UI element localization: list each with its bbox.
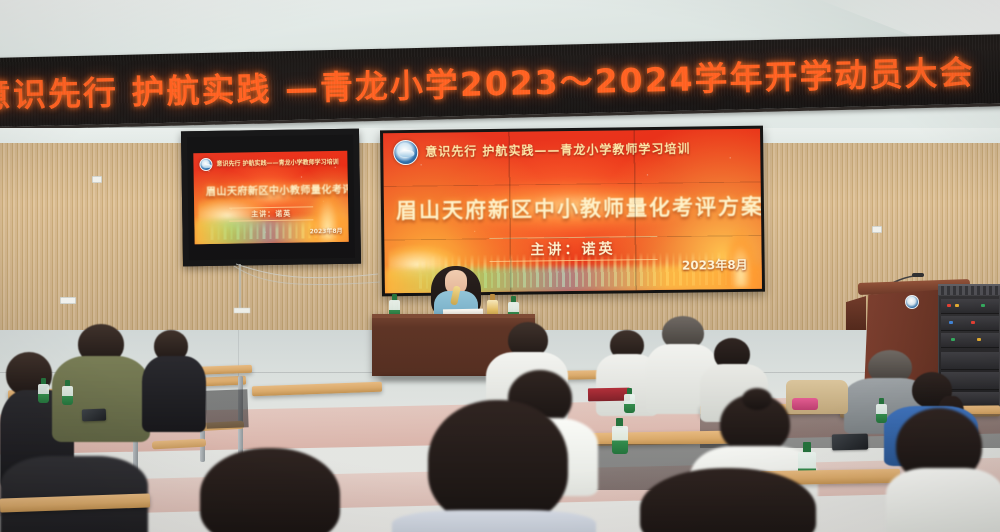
school-emblem-icon xyxy=(905,295,919,309)
attendee-foreground-left xyxy=(392,400,598,532)
attendee-foreground-far-right xyxy=(886,408,1000,532)
left-slide-presenter-block: 主讲：诺英 xyxy=(229,206,313,221)
rack-unit-amplifier[interactable] xyxy=(941,299,999,314)
rack-unit-power-amp[interactable] xyxy=(941,352,999,370)
left-slide-subtitle: 意识先行 护航实践——青龙小学教师学习培训 xyxy=(216,157,339,168)
left-screen-slide: 意识先行 护航实践——青龙小学教师学习培训 眉山天府新区中小教师量化考评方案 主… xyxy=(193,151,348,244)
water-bottle xyxy=(38,378,49,403)
wall-switch xyxy=(92,176,102,183)
left-slide-date: 2023年8月 xyxy=(310,226,343,236)
status-led xyxy=(981,304,985,307)
hanging-cables xyxy=(232,262,382,320)
attendee-head xyxy=(640,468,816,532)
status-led xyxy=(977,338,981,341)
attendee-left-3 xyxy=(142,330,208,440)
attendee-foreground-right xyxy=(616,468,836,532)
smartphone[interactable] xyxy=(82,409,106,422)
main-slide-presenter-block: 主讲：诺英 xyxy=(489,236,657,262)
attendee-body xyxy=(142,356,206,432)
wall-outlet xyxy=(60,297,76,304)
wall-outlet xyxy=(872,226,882,233)
left-slide-title: 眉山天府新区中小教师量化考评方案 xyxy=(206,181,336,198)
status-led xyxy=(947,304,951,307)
water-bottle xyxy=(62,380,73,405)
main-slide-date: 2023年8月 xyxy=(682,256,748,274)
auditorium-photo: 意识先行 护航实践 —青龙小学2023～2024学年开学动员大会 意识先行 护航… xyxy=(0,0,1000,532)
left-flat-tv: 意识先行 护航实践——青龙小学教师学习培训 眉山天府新区中小教师量化考评方案 主… xyxy=(181,129,361,267)
status-led xyxy=(971,321,975,324)
main-slide-presenter: 主讲：诺英 xyxy=(489,236,657,262)
seat-back-panel xyxy=(205,389,248,428)
attendee-body xyxy=(886,468,1000,532)
school-emblem-icon xyxy=(199,158,212,171)
attendee-body xyxy=(392,510,596,532)
attendee-head xyxy=(200,448,340,532)
smartphone[interactable] xyxy=(832,434,868,451)
water-bottle xyxy=(612,418,628,454)
water-bottle xyxy=(624,388,635,413)
rack-unit-sequencer[interactable] xyxy=(941,333,999,348)
led-banner-text: 意识先行 护航实践 —青龙小学2023～2024学年开学动员大会 xyxy=(0,45,975,116)
attendee-foreground-far-left xyxy=(0,446,150,532)
status-led xyxy=(955,304,959,307)
status-led xyxy=(949,321,953,324)
status-led xyxy=(951,338,955,341)
attendee-head xyxy=(428,400,568,524)
left-slide-presenter: 主讲：诺英 xyxy=(229,206,313,221)
hair-bun xyxy=(742,388,772,410)
school-emblem-icon xyxy=(393,140,418,165)
rack-unit-receiver[interactable] xyxy=(941,316,999,331)
main-slide-title: 眉山天府新区中小教师量化考评方案 xyxy=(396,191,749,225)
attendee-foreground-mid xyxy=(180,448,370,532)
